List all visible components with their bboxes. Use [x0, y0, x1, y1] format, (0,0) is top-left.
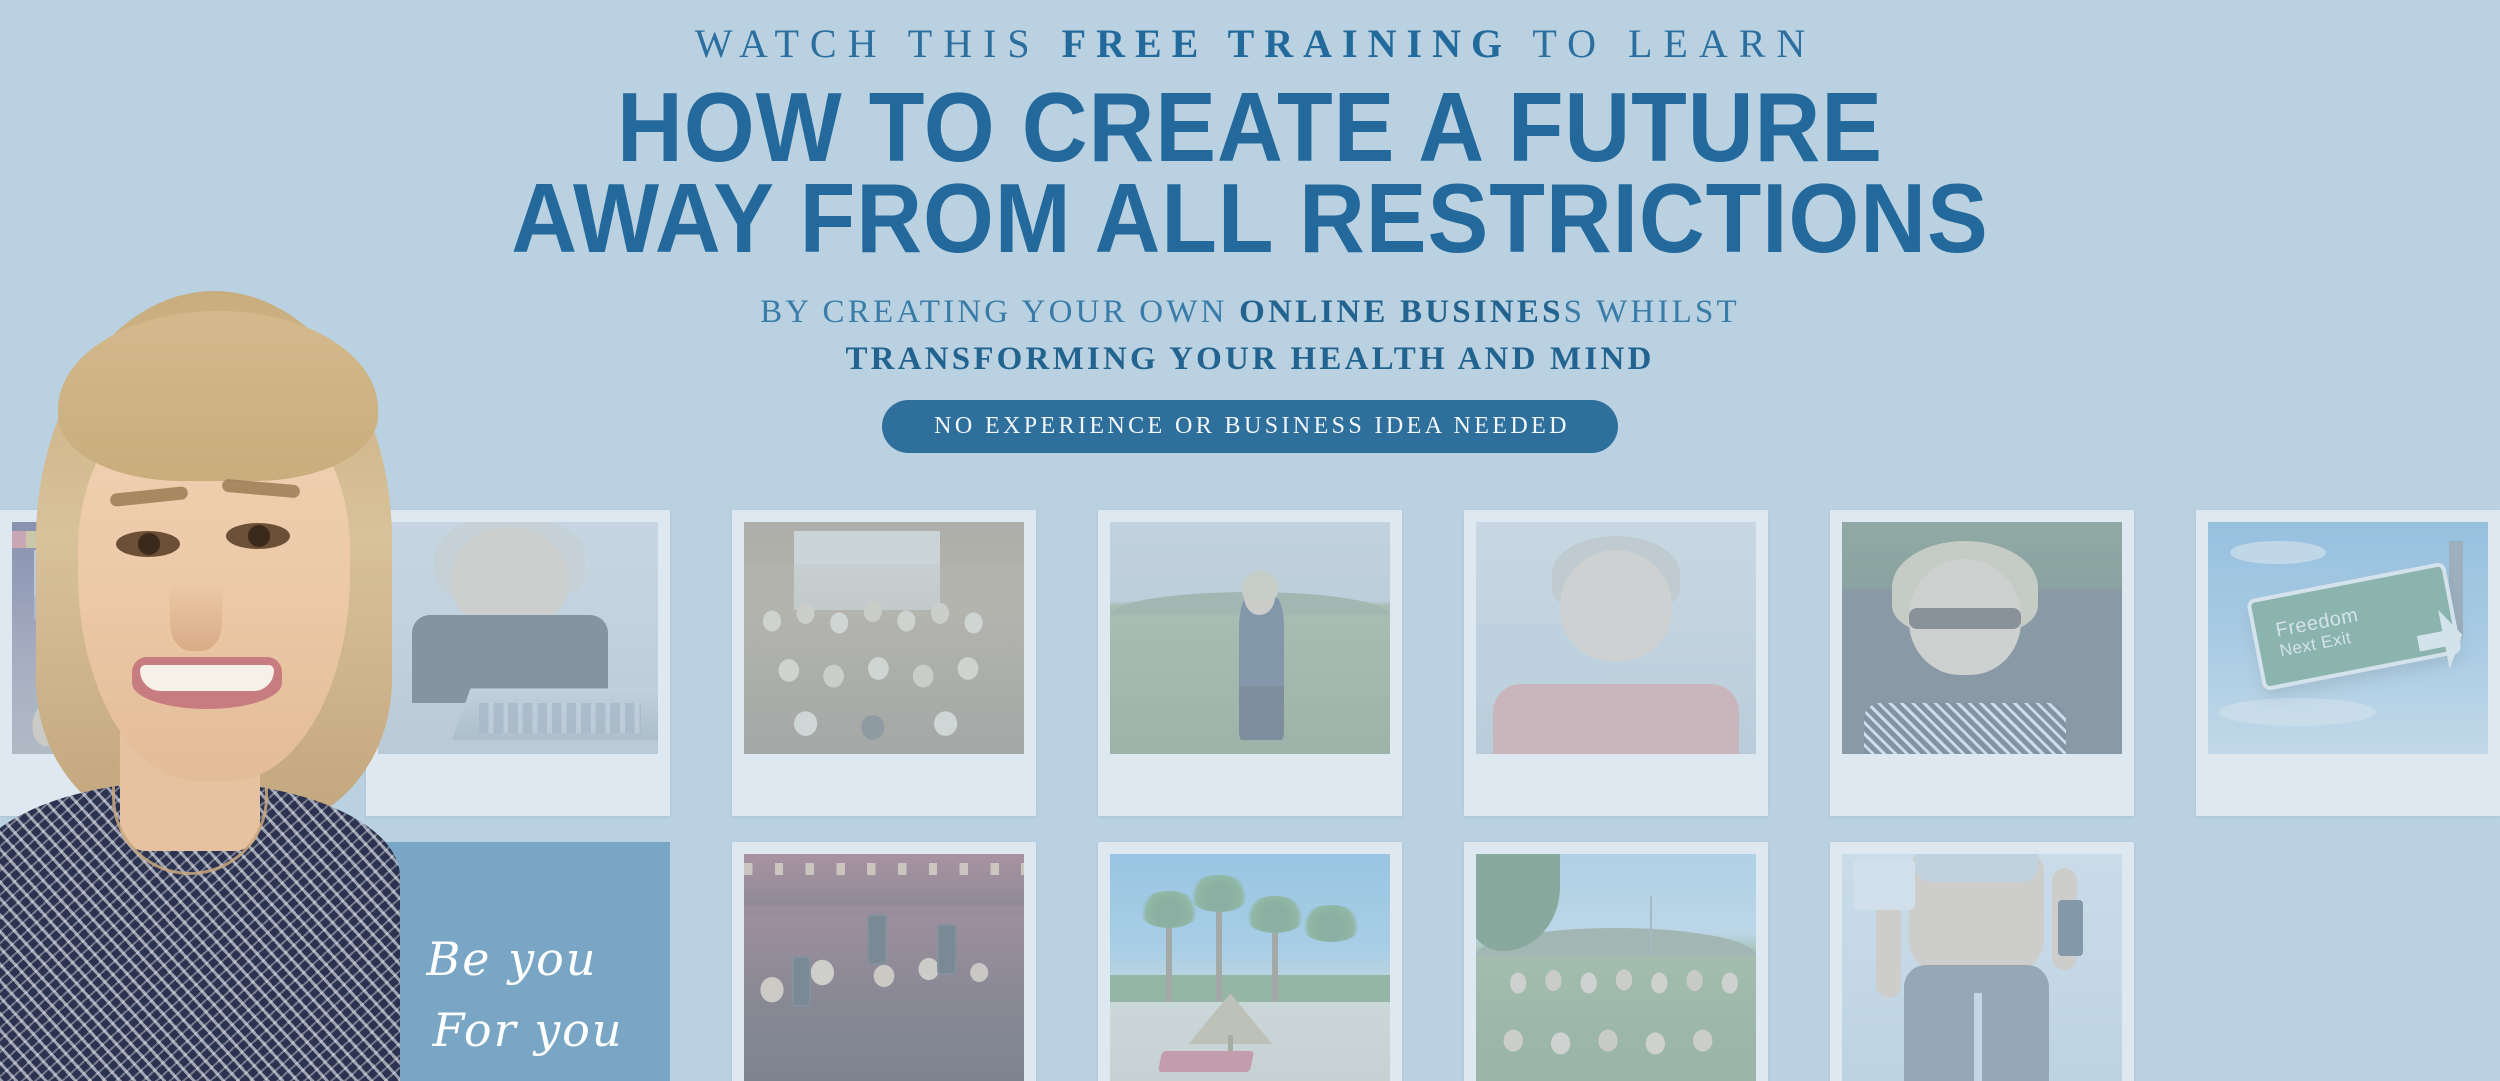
- road-sign-board: Freedom Next Exit: [2246, 562, 2462, 692]
- polaroid-caption-strip: [2208, 760, 2488, 806]
- photo-party-crowd: [0, 510, 304, 816]
- photo-fitness-body-image: [1842, 854, 2122, 1081]
- polaroid-caption-strip: [12, 760, 292, 806]
- polaroid-caption-strip: [378, 760, 658, 806]
- photo-tropical-resort: [1098, 842, 1402, 1081]
- photo-big-group-image: [744, 522, 1024, 754]
- photo-sofa-selfie-image: [1476, 522, 1756, 754]
- photo-tropical-resort-image: [1110, 854, 1390, 1081]
- photo-sofa-selfie: [1464, 510, 1768, 816]
- photo-retreat-group-image: [1476, 854, 1756, 1081]
- photo-hillside-image: [12, 854, 292, 1081]
- photo-car-sunglasses-image: [1842, 522, 2122, 754]
- hero-eyebrow-strong: FREE TRAINING: [1062, 21, 1512, 66]
- hero-eyebrow-after: TO LEARN: [1512, 21, 1816, 66]
- photo-freedom-sign: Freedom Next Exit: [2196, 510, 2500, 816]
- hero-eyebrow-before: WATCH THIS: [695, 21, 1062, 66]
- hero-badge-wrapper: NO EXPERIENCE OR BUSINESS IDEA NEEDED: [0, 400, 2500, 453]
- hero-text-block: WATCH THIS FREE TRAINING TO LEARN HOW TO…: [0, 0, 2500, 453]
- photo-freedom-sign-image: Freedom Next Exit: [2208, 522, 2488, 754]
- portrait-brow-right: [222, 479, 301, 499]
- photo-moorland-walk-image: [1110, 522, 1390, 754]
- photo-car-sunglasses: [1830, 510, 2134, 816]
- hero-subline-1-before: BY CREATING YOUR OWN: [760, 294, 1239, 330]
- portrait-brow-left: [110, 486, 189, 507]
- hero-subline-1: BY CREATING YOUR OWN ONLINE BUSINESS WHI…: [0, 294, 2500, 331]
- photo-fitness-body: [1830, 842, 2134, 1081]
- hero-subline-1-after: S WHILST: [1564, 294, 1740, 330]
- hero-eyebrow: WATCH THIS FREE TRAINING TO LEARN: [0, 22, 2500, 66]
- landing-page-hero: Freedom Next Exit Be you For you: [0, 0, 2500, 1081]
- polaroid-caption-strip: [744, 760, 1024, 806]
- card-be-you: Be you For you: [366, 842, 670, 1081]
- photo-hillside: [0, 842, 304, 1081]
- hero-headline-line2: AWAY FROM ALL RESTRICTIONS: [88, 173, 2413, 264]
- photo-laptop-working: [366, 510, 670, 816]
- hero-headline: HOW TO CREATE A FUTURE AWAY FROM ALL RES…: [88, 82, 2413, 264]
- be-you-line1: Be you: [426, 924, 623, 995]
- status-badge: NO EXPERIENCE OR BUSINESS IDEA NEEDED: [882, 400, 1618, 453]
- polaroid-caption-strip: [1110, 760, 1390, 806]
- photo-gallery-grid: Freedom Next Exit Be you For you: [0, 510, 2500, 1081]
- photo-party-crowd-image: [12, 522, 292, 754]
- be-you-quote: Be you For you: [412, 924, 623, 1067]
- hero-subline-1-strong: ONLINE BUSINES: [1239, 294, 1563, 330]
- photo-retreat-group: [1464, 842, 1768, 1081]
- hero-subline-2: TRANSFORMING YOUR HEALTH AND MIND: [0, 341, 2500, 378]
- photo-moorland-walk: [1098, 510, 1402, 816]
- polaroid-caption-strip: [1476, 760, 1756, 806]
- photo-concert-phones: [732, 842, 1036, 1081]
- photo-laptop-working-image: [378, 522, 658, 754]
- polaroid-caption-strip: [1842, 760, 2122, 806]
- photo-concert-phones-image: [744, 854, 1024, 1081]
- be-you-line2: For you: [426, 995, 623, 1066]
- photo-big-group: [732, 510, 1036, 816]
